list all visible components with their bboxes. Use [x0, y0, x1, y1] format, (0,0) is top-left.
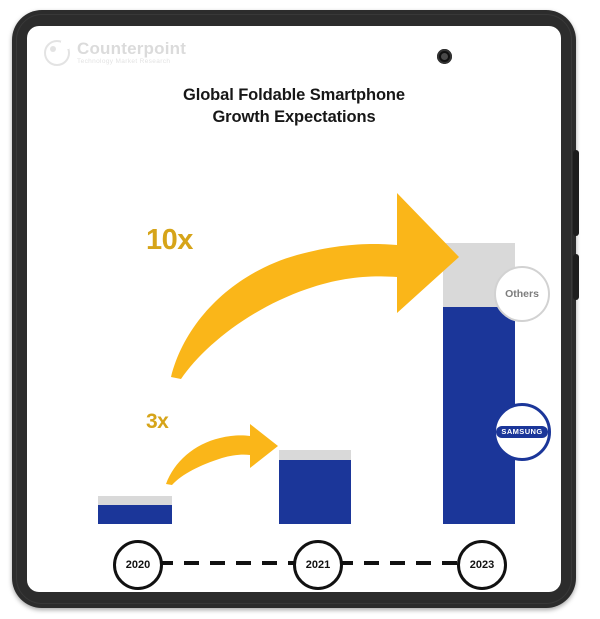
legend-label-others: Others [505, 288, 539, 300]
legend-bubble-samsung: SAMSUNG [493, 403, 551, 461]
phone-device-frame: Counterpoint Technology Market Research … [12, 10, 576, 608]
timeline-node-2021: 2021 [293, 540, 343, 590]
bar-2020-others-segment [98, 496, 172, 505]
timeline-node-2023: 2023 [457, 540, 507, 590]
bar-2021-others-segment [279, 450, 351, 460]
year-timeline: 2020 2021 2023 [27, 524, 561, 592]
phone-screen: Counterpoint Technology Market Research … [27, 26, 561, 592]
bar-2020-samsung-segment [98, 505, 172, 524]
volume-rocker-button[interactable] [573, 150, 579, 236]
bar-2021 [279, 450, 351, 524]
bar-chart: 10x 3x Others SAMSUNG 2020 2021 2023 [27, 26, 561, 592]
curved-arrow-up-right-icon-10x [145, 181, 465, 381]
timeline-node-2020: 2020 [113, 540, 163, 590]
legend-label-samsung: SAMSUNG [496, 426, 547, 439]
timeline-dash-segment [158, 561, 295, 565]
growth-label-3x: 3x [146, 410, 168, 434]
bar-2020 [98, 496, 172, 524]
timeline-dash-segment [338, 561, 459, 565]
screenshot-stage: Counterpoint Technology Market Research … [0, 0, 600, 619]
curved-arrow-up-right-icon-3x [160, 424, 280, 486]
power-button[interactable] [573, 254, 579, 300]
growth-label-10x: 10x [146, 224, 193, 257]
legend-bubble-others: Others [494, 266, 550, 322]
bar-2021-samsung-segment [279, 460, 351, 524]
